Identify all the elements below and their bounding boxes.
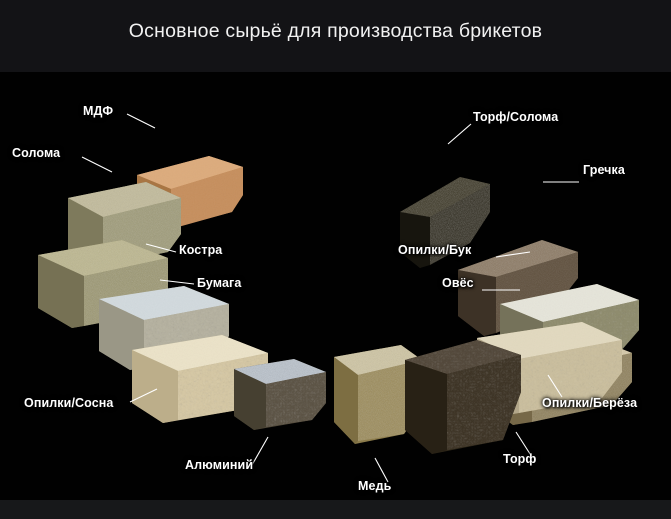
label-kostra: Костра [179,243,222,257]
page-title: Основное сырьё для производства брикетов [0,20,671,43]
label-mdf: МДФ [83,104,113,118]
infographic-image: Основное сырьё для производства брикетов [0,0,671,519]
label-bumaga: Бумага [197,276,241,290]
label-alyuminiy: Алюминий [185,458,253,472]
label-med: Медь [358,479,391,493]
label-oves: Овёс [442,276,474,290]
label-grechka: Гречка [583,163,625,177]
bottom-band [0,500,671,519]
briquette-torf [405,340,521,454]
label-torf: Торф [503,452,536,466]
label-torf-soloma: Торф/Солома [473,110,558,124]
briquettes-photo [0,72,671,500]
briquette-alyuminiy [234,359,326,430]
label-opilki-sosna: Опилки/Сосна [24,396,113,410]
label-soloma: Солома [12,146,60,160]
title-band: Основное сырьё для производства брикетов [0,0,671,72]
briquettes-illustration [0,72,671,500]
label-opilki-buk: Опилки/Бук [398,243,471,257]
label-opilki-bereza: Опилки/Берёза [542,396,637,410]
